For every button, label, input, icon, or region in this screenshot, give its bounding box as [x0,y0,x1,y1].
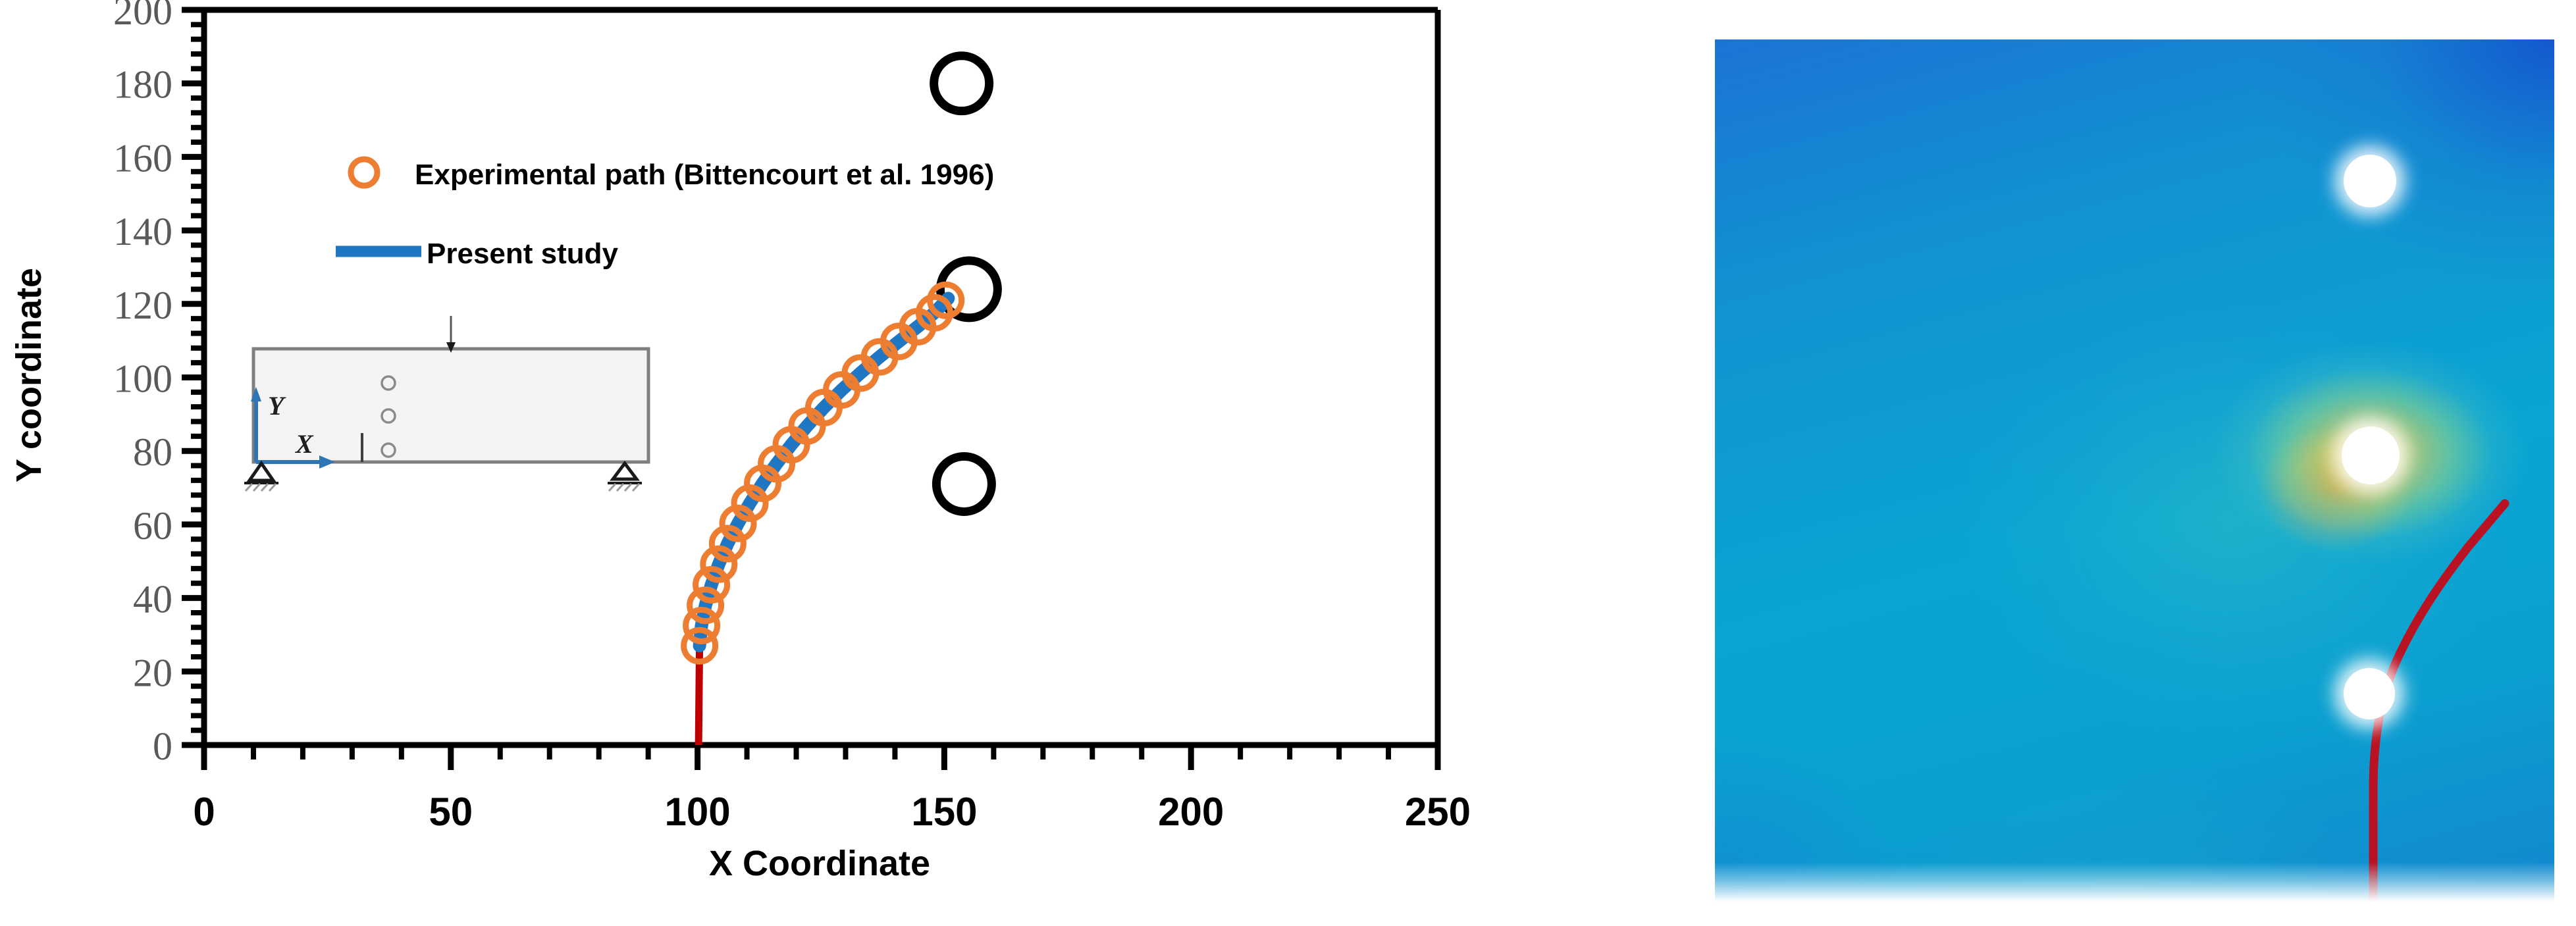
x-axis-title: X Coordinate [709,844,930,883]
pin-support-hatch [246,484,276,491]
y-tick-label: 0 [153,725,172,768]
y-tick-label: 140 [113,210,172,253]
y-tick-label: 160 [113,136,172,180]
x-axis-tick-labels: 050100150200250 [193,790,1471,834]
beam-schematic-inset: Y X [222,316,656,507]
y-axis-title: Y coordinate [9,268,49,482]
y-tick-label: 60 [133,504,172,548]
contour-bottom-fade [1715,862,2554,902]
x-tick-label: 200 [1158,790,1224,834]
x-tick-label: 150 [911,790,977,834]
x-tick-label: 50 [429,790,473,834]
x-tick-label: 0 [193,790,215,834]
y-axis-tick-labels: 020406080100120140160180200 [113,0,172,768]
hole-circle [936,456,991,511]
y-tick-label: 80 [133,430,172,474]
x-tick-label: 100 [665,790,731,834]
crack-path-chart: 020406080100120140160180200 050100150200… [0,0,1580,926]
hole-circle [934,56,989,111]
contour-hole-middle [2342,426,2400,484]
roller-support-hatch [609,484,639,491]
inset-x-axis-label: X [294,429,314,459]
contour-hole-bottom [2344,668,2395,719]
legend-label-present-study: Present study [427,238,619,270]
roller-support-right [613,463,637,479]
legend: Experimental path (Bittencourt et al. 19… [336,159,994,270]
figure-root: 020406080100120140160180200 050100150200… [0,0,2576,926]
contour-hole-top [2344,155,2396,207]
y-tick-label: 100 [113,357,172,401]
legend-label-experimental: Experimental path (Bittencourt et al. 19… [415,159,994,191]
stress-contour-plot [1715,39,2554,902]
y-tick-label: 200 [113,0,172,33]
y-tick-label: 20 [133,651,172,694]
contour-crack-path [1715,39,2554,902]
y-tick-label: 180 [113,63,172,107]
experimental-path-markers [684,284,962,661]
legend-marker-open-circle [351,159,377,186]
pin-support-left [250,463,273,480]
x-tick-label: 250 [1405,790,1471,834]
y-tick-label: 40 [133,578,172,621]
x-axis-major-ticks [204,745,1438,770]
y-tick-label: 120 [113,284,172,327]
inset-y-axis-label: Y [268,391,286,421]
y-axis-major-ticks [182,10,204,745]
